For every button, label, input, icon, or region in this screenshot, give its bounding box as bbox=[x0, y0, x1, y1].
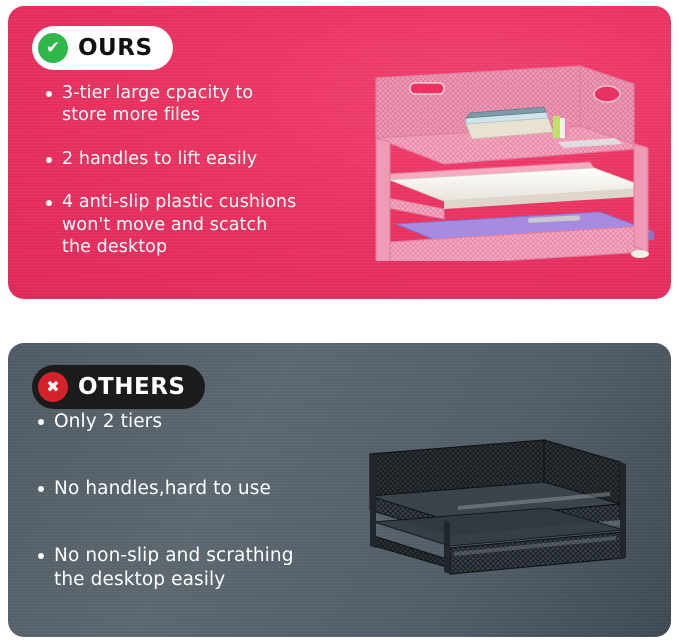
list-item: 2 handles to lift easily bbox=[42, 148, 342, 170]
others-bullet-text-2: No handles,hard to use bbox=[54, 477, 271, 501]
list-item: No handles,hard to use bbox=[34, 477, 364, 501]
check-circle-icon: ✔ bbox=[38, 33, 68, 63]
comparison-graphic: ✔ OURS 3-tier large cpacity to store mor… bbox=[0, 0, 679, 643]
ours-bullet-text-1: 3-tier large cpacity to store more files bbox=[62, 82, 253, 127]
ours-bullet-text-3: 4 anti-slip plastic cushions won't move … bbox=[62, 191, 296, 258]
black-tray-image bbox=[348, 436, 648, 576]
bullet-dot-icon bbox=[46, 157, 52, 163]
list-item: No non-slip and scrathing the desktop ea… bbox=[34, 544, 364, 592]
ours-badge: ✔ OURS bbox=[32, 26, 173, 70]
list-item: 3-tier large cpacity to store more files bbox=[42, 82, 342, 127]
bullet-dot-icon bbox=[46, 200, 52, 206]
others-badge: ✖ OTHERS bbox=[32, 365, 205, 409]
bullet-dot-icon bbox=[38, 486, 44, 492]
pink-tray-image bbox=[348, 56, 658, 261]
ours-bullet-text-2: 2 handles to lift easily bbox=[62, 148, 257, 170]
others-bullet-list: Only 2 tiers No handles,hard to use No n… bbox=[34, 410, 364, 635]
list-item: 4 anti-slip plastic cushions won't move … bbox=[42, 191, 342, 258]
others-bullet-text-1: Only 2 tiers bbox=[54, 410, 162, 434]
ours-panel: ✔ OURS 3-tier large cpacity to store mor… bbox=[8, 6, 671, 299]
x-circle-icon: ✖ bbox=[38, 372, 68, 402]
bullet-dot-icon bbox=[38, 553, 44, 559]
ours-bullet-list: 3-tier large cpacity to store more files… bbox=[42, 82, 342, 279]
list-item: Only 2 tiers bbox=[34, 410, 364, 434]
others-panel: ✖ OTHERS Only 2 tiers No handles,hard to… bbox=[8, 343, 671, 637]
bullet-dot-icon bbox=[38, 419, 44, 425]
others-bullet-text-3: No non-slip and scrathing the desktop ea… bbox=[54, 544, 294, 592]
bullet-dot-icon bbox=[46, 91, 52, 97]
ours-badge-label: OURS bbox=[78, 37, 153, 60]
others-badge-label: OTHERS bbox=[78, 376, 185, 399]
